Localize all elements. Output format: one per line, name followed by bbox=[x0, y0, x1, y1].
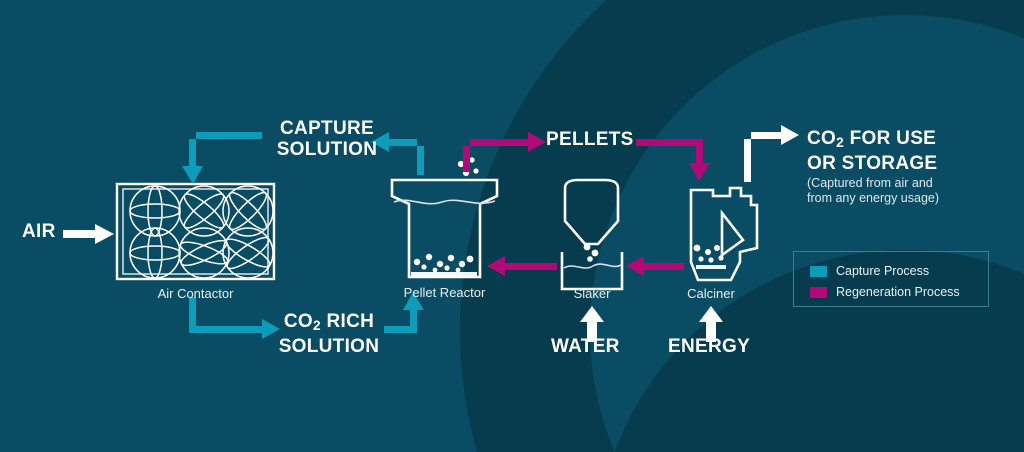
pellet-reactor-graphic bbox=[392, 157, 497, 277]
legend-swatch-capture bbox=[810, 266, 827, 277]
arrow-co2-rich-out bbox=[189, 297, 280, 339]
legend-label-capture: Capture Process bbox=[836, 264, 929, 278]
co2-rich-solution-label: CO2 RICH SOLUTION bbox=[274, 311, 384, 357]
capture-solution-label: CAPTURE SOLUTION bbox=[272, 118, 382, 160]
legend-item-capture: Capture Process bbox=[810, 262, 929, 280]
arrow-capture-solution-out bbox=[182, 132, 262, 184]
arrow-slaker-to-reactor bbox=[487, 256, 557, 276]
co2-output-note: (Captured from air and from any energy u… bbox=[807, 176, 1007, 206]
calciner-graphic bbox=[691, 188, 757, 280]
process-flow-graphics bbox=[0, 0, 1024, 452]
air-label: AIR bbox=[22, 221, 56, 242]
legend-label-regeneration: Regeneration Process bbox=[836, 285, 960, 299]
slaker-particles-icon bbox=[584, 244, 599, 262]
legend: Capture Process Regeneration Process bbox=[793, 251, 989, 307]
legend-item-regeneration: Regeneration Process bbox=[810, 283, 960, 301]
pellet-reactor-caption: Pellet Reactor bbox=[384, 285, 505, 300]
energy-label: ENERGY bbox=[668, 336, 750, 357]
slaker-caption: Slaker bbox=[552, 286, 632, 301]
arrow-pellets-in bbox=[636, 139, 710, 181]
arrow-calciner-to-slaker bbox=[626, 256, 684, 276]
air-contactor-graphic bbox=[117, 184, 274, 279]
pellets-label: PELLETS bbox=[546, 129, 634, 150]
air-arrow-icon bbox=[63, 224, 114, 244]
diagram-canvas: AIR CAPTURE SOLUTION CO2 RICH SOLUTION P… bbox=[0, 0, 1024, 452]
co2-output-label: CO2 FOR USE OR STORAGE bbox=[807, 128, 997, 174]
calciner-caption: Calciner bbox=[672, 286, 750, 301]
legend-swatch-regeneration bbox=[810, 287, 827, 298]
air-contactor-caption: Air Contactor bbox=[117, 286, 274, 301]
co2-out-arrow-icon bbox=[744, 125, 799, 182]
slaker-graphic bbox=[562, 180, 622, 289]
arrow-pellets-out bbox=[463, 132, 546, 172]
water-label: WATER bbox=[551, 336, 620, 357]
